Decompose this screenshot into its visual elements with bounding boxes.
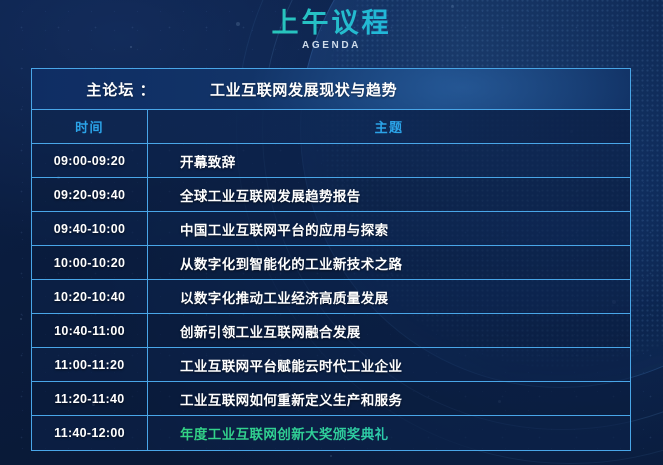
table-row: 09:00-09:20 开幕致辞 (32, 144, 630, 178)
column-header-topic: 主题 (148, 110, 630, 143)
forum-banner-row: 主论坛 ： 工业互联网发展现状与趋势 (32, 69, 630, 110)
cell-time: 11:40-12:00 (32, 416, 148, 450)
slide-canvas: 上午议程 AGENDA 主论坛 ： 工业互联网发展现状与趋势 时间 主题 09:… (0, 0, 663, 465)
cell-topic: 开幕致辞 (148, 144, 630, 177)
cell-time: 09:00-09:20 (32, 144, 148, 177)
forum-topic: 工业互联网发展现状与趋势 (210, 79, 397, 100)
table-row: 10:00-10:20 从数字化到智能化的工业新技术之路 (32, 246, 630, 280)
table-header-row: 时间 主题 (32, 110, 630, 144)
cell-topic: 从数字化到智能化的工业新技术之路 (148, 246, 630, 279)
cell-topic: 中国工业互联网平台的应用与探索 (148, 212, 630, 245)
table-row: 09:40-10:00 中国工业互联网平台的应用与探索 (32, 212, 630, 246)
cell-topic: 全球工业互联网发展趋势报告 (148, 178, 630, 211)
column-header-time: 时间 (32, 110, 148, 143)
table-row: 11:20-11:40 工业互联网如何重新定义生产和服务 (32, 382, 630, 416)
cell-topic: 工业互联网如何重新定义生产和服务 (148, 382, 630, 415)
cell-topic-highlighted: 年度工业互联网创新大奖颁奖典礼 (148, 416, 630, 450)
table-row: 10:20-10:40 以数字化推动工业经济高质量发展 (32, 280, 630, 314)
cell-topic: 工业互联网平台赋能云时代工业企业 (148, 348, 630, 381)
forum-label: 主论坛 ： (32, 79, 210, 100)
page-title: 上午议程 (0, 8, 663, 38)
table-row: 11:00-11:20 工业互联网平台赋能云时代工业企业 (32, 348, 630, 382)
slide-title-block: 上午议程 AGENDA (0, 8, 663, 51)
cell-topic: 创新引领工业互联网融合发展 (148, 314, 630, 347)
cell-time: 11:20-11:40 (32, 382, 148, 415)
cell-time: 10:20-10:40 (32, 280, 148, 313)
cell-time: 10:40-11:00 (32, 314, 148, 347)
agenda-table: 主论坛 ： 工业互联网发展现状与趋势 时间 主题 09:00-09:20 开幕致… (31, 68, 631, 451)
table-row: 09:20-09:40 全球工业互联网发展趋势报告 (32, 178, 630, 212)
cell-time: 11:00-11:20 (32, 348, 148, 381)
cell-time: 09:20-09:40 (32, 178, 148, 211)
cell-time: 09:40-10:00 (32, 212, 148, 245)
table-row: 11:40-12:00 年度工业互联网创新大奖颁奖典礼 (32, 416, 630, 450)
cell-time: 10:00-10:20 (32, 246, 148, 279)
cell-topic: 以数字化推动工业经济高质量发展 (148, 280, 630, 313)
table-row: 10:40-11:00 创新引领工业互联网融合发展 (32, 314, 630, 348)
page-subtitle: AGENDA (0, 40, 663, 51)
